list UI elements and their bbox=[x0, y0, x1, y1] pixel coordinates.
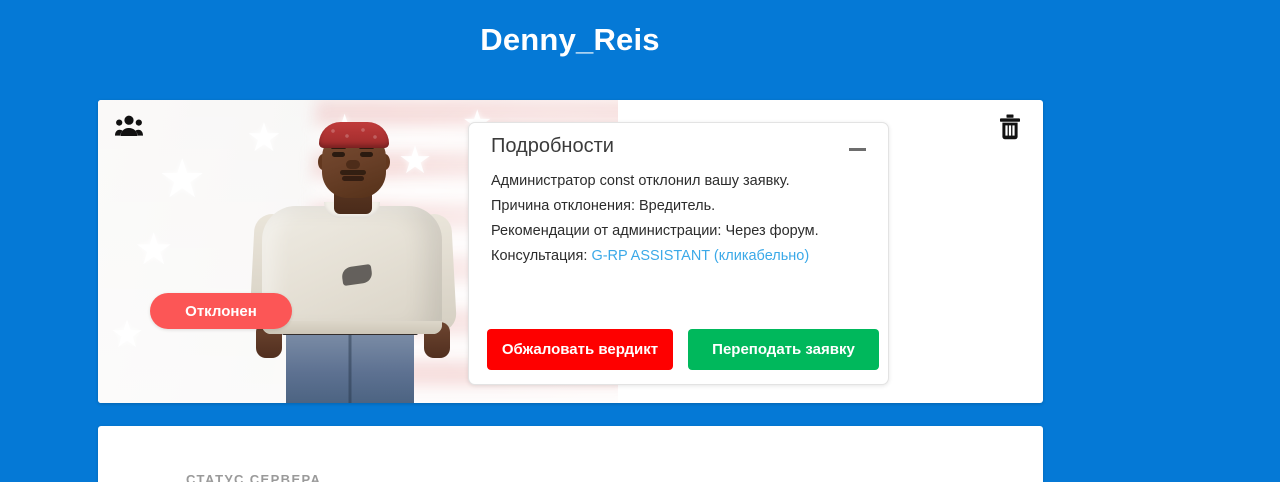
character-eye-left bbox=[332, 152, 345, 157]
character-model bbox=[238, 114, 468, 403]
character-mouth bbox=[342, 176, 364, 181]
details-panel-title: Подробности bbox=[491, 135, 614, 158]
character-moustache bbox=[340, 170, 366, 175]
character-eye-right bbox=[360, 152, 373, 157]
detail-line-reason: Причина отклонения: Вредитель. bbox=[491, 194, 866, 219]
resubmit-application-button[interactable]: Переподать заявку bbox=[688, 329, 879, 370]
flag-star: ★ bbox=[110, 316, 144, 354]
details-panel-header: Подробности bbox=[469, 123, 888, 165]
details-panel-body: Администратор const отклонил вашу заявку… bbox=[469, 165, 888, 269]
consultation-link[interactable]: G-RP ASSISTANT (кликабельно) bbox=[591, 248, 809, 264]
minimize-dash-icon[interactable] bbox=[849, 148, 866, 151]
detail-line-recommendation: Рекомендации от администрации: Через фор… bbox=[491, 219, 866, 244]
secondary-card-heading: СТАТУС СЕРВЕРА bbox=[186, 472, 321, 482]
character-card: ★ ★ ★ ★ ★ ★ ★ ★ ★ bbox=[98, 100, 1043, 403]
character-jeans bbox=[286, 329, 414, 403]
details-panel-actions: Обжаловать вердикт Переподать заявку bbox=[487, 329, 879, 370]
flag-star: ★ bbox=[134, 228, 173, 272]
secondary-card: СТАТУС СЕРВЕРА bbox=[98, 426, 1043, 482]
detail-line-admin: Администратор const отклонил вашу заявку… bbox=[491, 169, 866, 194]
users-group-icon[interactable] bbox=[115, 114, 143, 138]
character-nose bbox=[346, 160, 360, 169]
appeal-verdict-button[interactable]: Обжаловать вердикт bbox=[487, 329, 673, 370]
flag-star: ★ bbox=[158, 152, 206, 206]
character-bandana bbox=[319, 122, 389, 148]
detail-line-consultation: Консультация: G-RP ASSISTANT (кликабельн… bbox=[491, 244, 866, 269]
consultation-label: Консультация: bbox=[491, 248, 591, 264]
page-title: Denny_Reis bbox=[0, 22, 1140, 58]
details-panel: Подробности Администратор const отклонил… bbox=[468, 122, 889, 385]
page-root: Denny_Reis ★ ★ ★ ★ ★ ★ ★ ★ ★ bbox=[0, 0, 1280, 482]
trash-icon[interactable] bbox=[999, 114, 1021, 140]
status-badge: Отклонен bbox=[150, 293, 292, 329]
